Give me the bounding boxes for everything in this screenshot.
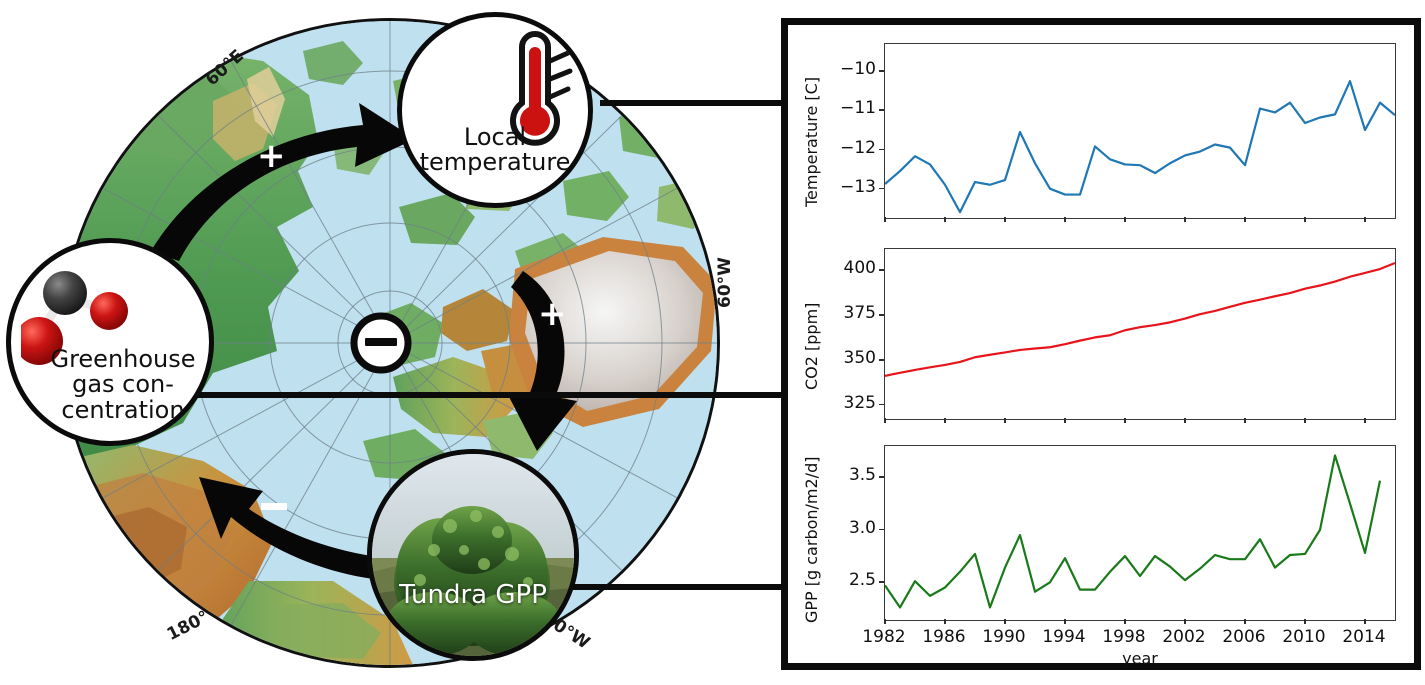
connector-gpp [560, 584, 788, 590]
ytick-label: 3.5 [822, 465, 876, 485]
xtick-mark [1124, 418, 1126, 423]
chart-co2-plot-area [884, 248, 1396, 420]
climate-feedback-figure: + + 60°E 60°W 120°W 180° [0, 0, 1425, 685]
chart-gpp-xlabel: year [884, 649, 1396, 668]
callout-local-temperature[interactable]: Local temperature [397, 12, 593, 208]
chart-co2: CO2 [ppm] 400375350325 [788, 240, 1414, 430]
xtick-mark [1304, 619, 1306, 624]
plus-sign-greenland-arrow: + [538, 297, 567, 331]
xtick-mark [1004, 619, 1006, 624]
xtick-mark [1184, 217, 1186, 222]
xtick-label: 2010 [1276, 627, 1332, 647]
chart-co2-line [885, 249, 1395, 419]
ytick-label: 400 [822, 258, 876, 278]
callout-gpp-label: Tundra GPP [372, 582, 574, 610]
xtick-mark [944, 217, 946, 222]
callout-temperature-line-2: temperature [402, 150, 588, 175]
xtick-mark [1304, 418, 1306, 423]
ytick-mark [879, 70, 884, 72]
ytick-label: −12 [822, 138, 876, 158]
chart-gpp: GPP [g carbon/m2/d] 3.53.02.5 1982198619… [788, 437, 1414, 663]
ytick-mark [879, 476, 884, 478]
ytick-label: 350 [822, 348, 876, 368]
callout-greenhouse-line-2: gas con- [37, 372, 209, 397]
ytick-label: −13 [822, 177, 876, 197]
minus-sign-tundra-arrow [261, 503, 287, 510]
ytick-mark [879, 314, 884, 316]
ytick-label: 3.0 [822, 518, 876, 538]
ytick-mark [879, 149, 884, 151]
xtick-mark [1364, 217, 1366, 222]
xtick-mark [884, 418, 886, 423]
xtick-mark [1364, 418, 1366, 423]
xtick-label: 1986 [916, 627, 972, 647]
ytick-mark [879, 188, 884, 190]
callout-greenhouse-label: Greenhouse gas con- centration [11, 347, 209, 423]
xtick-mark [1244, 418, 1246, 423]
ytick-mark [879, 359, 884, 361]
ytick-mark [879, 109, 884, 111]
charts-panel: Temperature [C] −10−11−12−13 CO2 [ppm] 4… [781, 18, 1421, 670]
xtick-mark [1184, 619, 1186, 624]
xtick-label: 1994 [1036, 627, 1092, 647]
xtick-mark [1184, 418, 1186, 423]
ytick-mark [879, 529, 884, 531]
xtick-label: 1998 [1096, 627, 1152, 647]
xtick-mark [1364, 619, 1366, 624]
connector-temperature [600, 100, 788, 106]
connector-greenhouse [183, 392, 788, 398]
callout-greenhouse-line-3: centration [37, 398, 209, 423]
ytick-mark [879, 581, 884, 583]
xtick-label: 1990 [976, 627, 1032, 647]
chart-co2-ylabel: CO2 [ppm] [802, 303, 821, 390]
plus-sign-sea-ice-arrow: + [257, 139, 286, 173]
chart-temperature-line [885, 44, 1395, 218]
xtick-mark [1244, 619, 1246, 624]
xtick-mark [1004, 217, 1006, 222]
xtick-mark [1064, 217, 1066, 222]
xtick-mark [944, 418, 946, 423]
ytick-label: 325 [822, 393, 876, 413]
xtick-mark [1304, 217, 1306, 222]
center-minus-badge [354, 316, 408, 370]
chart-gpp-ylabel: GPP [g carbon/m2/d] [802, 457, 821, 623]
chart-temperature-plot-area [884, 43, 1396, 219]
xtick-mark [1124, 217, 1126, 222]
callout-greenhouse-line-1: Greenhouse [37, 347, 209, 372]
xtick-mark [1004, 418, 1006, 423]
chart-gpp-plot-area [884, 445, 1396, 621]
lon-label-60w: 60°W [715, 257, 735, 308]
callout-greenhouse-gas[interactable]: Greenhouse gas con- centration [6, 238, 214, 446]
chart-temperature: Temperature [C] −10−11−12−13 [788, 35, 1414, 233]
lon-label-180: 180° [164, 607, 212, 645]
xtick-label: 2002 [1156, 627, 1212, 647]
xtick-label: 2006 [1216, 627, 1272, 647]
xtick-mark [1244, 217, 1246, 222]
ytick-mark [879, 404, 884, 406]
ytick-label: 2.5 [822, 570, 876, 590]
callout-temperature-line-1: Local [402, 125, 588, 150]
xtick-mark [884, 217, 886, 222]
callout-temperature-label: Local temperature [402, 125, 588, 176]
ytick-mark [879, 269, 884, 271]
xtick-mark [1064, 619, 1066, 624]
tundra-shrub-photo [372, 454, 574, 656]
chart-temperature-ylabel: Temperature [C] [802, 77, 821, 207]
xtick-mark [1124, 619, 1126, 624]
xtick-label: 1982 [856, 627, 912, 647]
ytick-label: −10 [822, 59, 876, 79]
ytick-label: −11 [822, 98, 876, 118]
callout-tundra-gpp[interactable]: Tundra GPP [367, 449, 579, 661]
xtick-mark [944, 619, 946, 624]
map-panel: + + 60°E 60°W 120°W 180° [0, 0, 780, 685]
xtick-label: 2014 [1336, 627, 1392, 647]
chart-gpp-line [885, 446, 1395, 620]
xtick-mark [884, 619, 886, 624]
ytick-label: 375 [822, 303, 876, 323]
xtick-mark [1064, 418, 1066, 423]
